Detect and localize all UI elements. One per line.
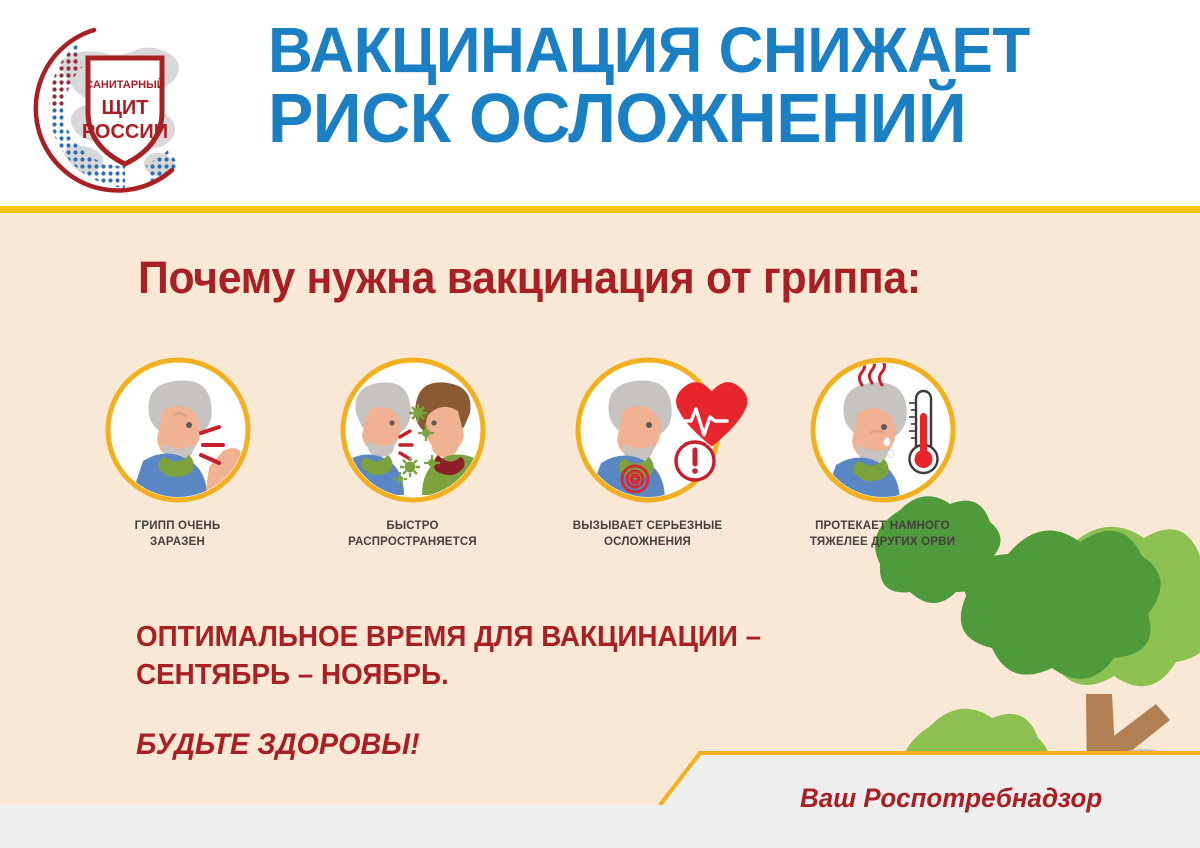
caption-line1: ПРОТЕКАЕТ НАМНОГО — [815, 520, 950, 532]
section-heading: Почему нужна вакцинация от гриппа: — [138, 252, 921, 304]
reason-caption: БЫСТРО РАСПРОСТРАНЯЕТСЯ — [295, 519, 530, 550]
caption-line1: ВЫЗЫВАЕТ СЕРЬЕЗНЫЕ — [573, 520, 723, 532]
page-title-line1: ВАКЦИНАЦИЯ СНИЖАЕТ — [268, 20, 1122, 81]
page-title: ВАКЦИНАЦИЯ СНИЖАЕТ РИСК ОСЛОЖНЕНИЙ — [268, 20, 1122, 153]
cta-line2: СЕНТЯБРЬ – НОЯБРЬ. — [136, 659, 449, 691]
reason-item: ВЫЗЫВАЕТ СЕРЬЕЗНЫЕ ОСЛОЖНЕНИЯ — [530, 355, 765, 550]
reason-item: БЫСТРО РАСПРОСТРАНЯЕТСЯ — [295, 355, 530, 550]
reason-item: ГРИПП ОЧЕНЬ ЗАРАЗЕН — [60, 355, 295, 550]
caption-line2: ОСЛОЖНЕНИЯ — [604, 536, 691, 548]
poster-root: САНИТАРНЫЙ ЩИТ РОССИИ ВАКЦИНАЦИЯ СНИЖАЕТ… — [0, 0, 1200, 848]
exclamation-badge — [676, 442, 714, 480]
caption-line2: ЗАРАЗЕН — [150, 536, 205, 548]
caption-line1: ГРИПП ОЧЕНЬ — [135, 520, 221, 532]
logo-line2: ЩИТ — [102, 97, 149, 119]
logo-line3: РОССИИ — [82, 121, 168, 143]
reason-caption: ГРИПП ОЧЕНЬ ЗАРАЗЕН — [60, 519, 295, 550]
header-divider-rule — [0, 206, 1200, 213]
page-title-line2: РИСК ОСЛОЖНЕНИЙ — [268, 85, 1122, 152]
heart-complication-icon — [573, 355, 723, 505]
reasons-row: ГРИПП ОЧЕНЬ ЗАРАЗЕН — [60, 355, 1000, 570]
caption-line2: ТЯЖЕЛЕЕ ДРУГИХ ОРВИ — [810, 536, 955, 548]
vaccination-timing-text: ОПТИМАЛЬНОЕ ВРЕМЯ ДЛЯ ВАКЦИНАЦИИ – СЕНТЯ… — [136, 618, 761, 695]
sanitary-shield-logo: САНИТАРНЫЙ ЩИТ РОССИИ — [30, 16, 220, 196]
cta-line1: ОПТИМАЛЬНОЕ ВРЕМЯ ДЛЯ ВАКЦИНАЦИИ – — [136, 621, 761, 653]
reason-caption: ПРОТЕКАЕТ НАМНОГО ТЯЖЕЛЕЕ ДРУГИХ ОРВИ — [765, 519, 1000, 550]
reason-caption: ВЫЗЫВАЕТ СЕРЬЕЗНЫЕ ОСЛОЖНЕНИЯ — [530, 519, 765, 550]
closing-message: БУДЬТЕ ЗДОРОВЫ! — [136, 728, 420, 762]
virus-spread-icon — [338, 355, 488, 505]
coughing-person-icon — [103, 355, 253, 505]
logo-line1: САНИТАРНЫЙ — [85, 78, 164, 91]
caption-line1: БЫСТРО — [386, 520, 438, 532]
footer-signature: Ваш Роспотребнадзор — [800, 783, 1102, 814]
fever-thermometer-icon — [808, 355, 958, 505]
header-band: САНИТАРНЫЙ ЩИТ РОССИИ ВАКЦИНАЦИЯ СНИЖАЕТ… — [0, 0, 1200, 206]
reason-item: ПРОТЕКАЕТ НАМНОГО ТЯЖЕЛЕЕ ДРУГИХ ОРВИ — [765, 355, 1000, 550]
caption-line2: РАСПРОСТРАНЯЕТСЯ — [348, 536, 477, 548]
